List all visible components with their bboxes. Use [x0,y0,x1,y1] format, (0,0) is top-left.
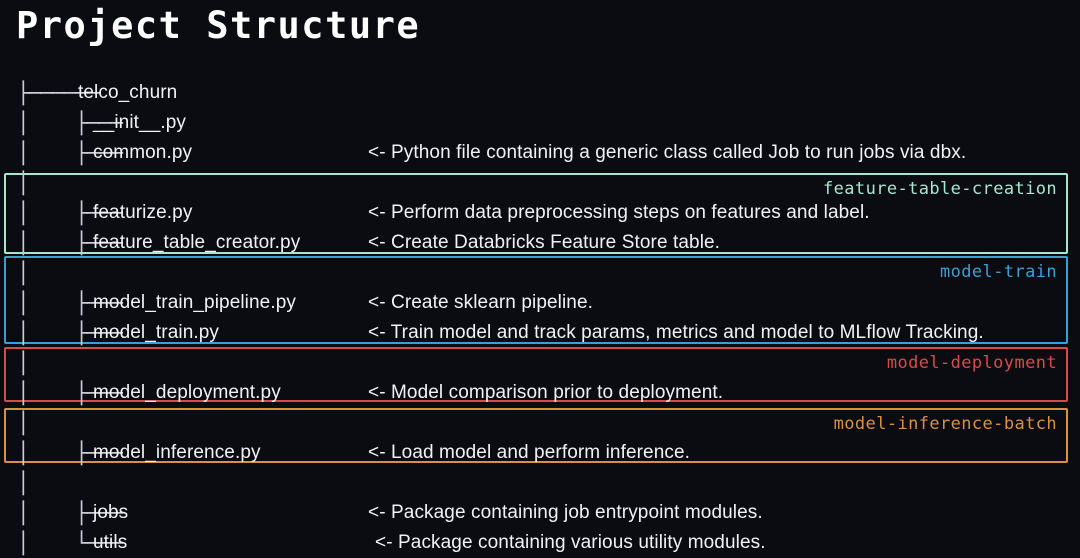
tree-node-comment: <- Package containing various utility mo… [375,528,766,558]
tree-node-comment: <- Load model and perform inference. [368,438,690,468]
tree-row: │ └───utils<- Package containing various… [0,528,1080,558]
tree-node-name: telco_churn [78,78,177,108]
tree-connector-glyph: │ [17,468,29,498]
tree-row: │ ├───jobs<- Package containing job entr… [0,498,1080,528]
tree-row: │ ├───model_inference.py<- Load model an… [0,438,1080,468]
tree-row: │ ├───model_train_pipeline.py<- Create s… [0,288,1080,318]
tree-row: ├──────telco_churn [0,78,1080,108]
tree-row: │ [0,408,1080,438]
page-title: Project Structure [16,2,420,50]
tree-node-name: model_train_pipeline.py [93,288,296,318]
tree-row: │ [0,258,1080,288]
tree-node-comment: <- Python file containing a generic clas… [368,138,966,168]
tree-connector-glyph: │ [17,348,29,378]
tree-node-name: featurize.py [93,198,192,228]
tree-connector-glyph: │ [17,258,29,288]
tree-row: │ [0,168,1080,198]
tree-node-comment: <- Create Databricks Feature Store table… [368,228,720,258]
tree-connector-glyph: │ [17,408,29,438]
tree-row: │ ├───model_train.py<- Train model and t… [0,318,1080,348]
tree-node-name: common.py [93,138,192,168]
tree-node-name: model_train.py [93,318,219,348]
tree-row: │ ├───model_deployment.py<- Model compar… [0,378,1080,408]
tree-node-name: jobs [93,498,128,528]
tree-node-comment: <- Model comparison prior to deployment. [368,378,723,408]
tree-node-name: utils [93,528,127,558]
project-tree: feature-table-creationmodel-trainmodel-d… [0,78,1080,543]
tree-node-comment: <- Perform data preprocessing steps on f… [368,198,870,228]
tree-row: │ ├───featurize.py<- Perform data prepro… [0,198,1080,228]
tree-row: │ ├───feature_table_creator.py<- Create … [0,228,1080,258]
tree-row: │ [0,348,1080,378]
tree-node-name: feature_table_creator.py [93,228,300,258]
tree-node-name: model_deployment.py [93,378,281,408]
tree-node-name: model_inference.py [93,438,261,468]
tree-connector-glyph: │ [17,168,29,198]
tree-row: │ ├───__init__.py [0,108,1080,138]
tree-node-comment: <- Package containing job entrypoint mod… [368,498,763,528]
tree-row: │ [0,468,1080,498]
tree-node-comment: <- Train model and track params, metrics… [368,318,984,348]
tree-row: │ ├───common.py<- Python file containing… [0,138,1080,168]
tree-node-comment: <- Create sklearn pipeline. [368,288,593,318]
tree-node-name: __init__.py [93,108,186,138]
